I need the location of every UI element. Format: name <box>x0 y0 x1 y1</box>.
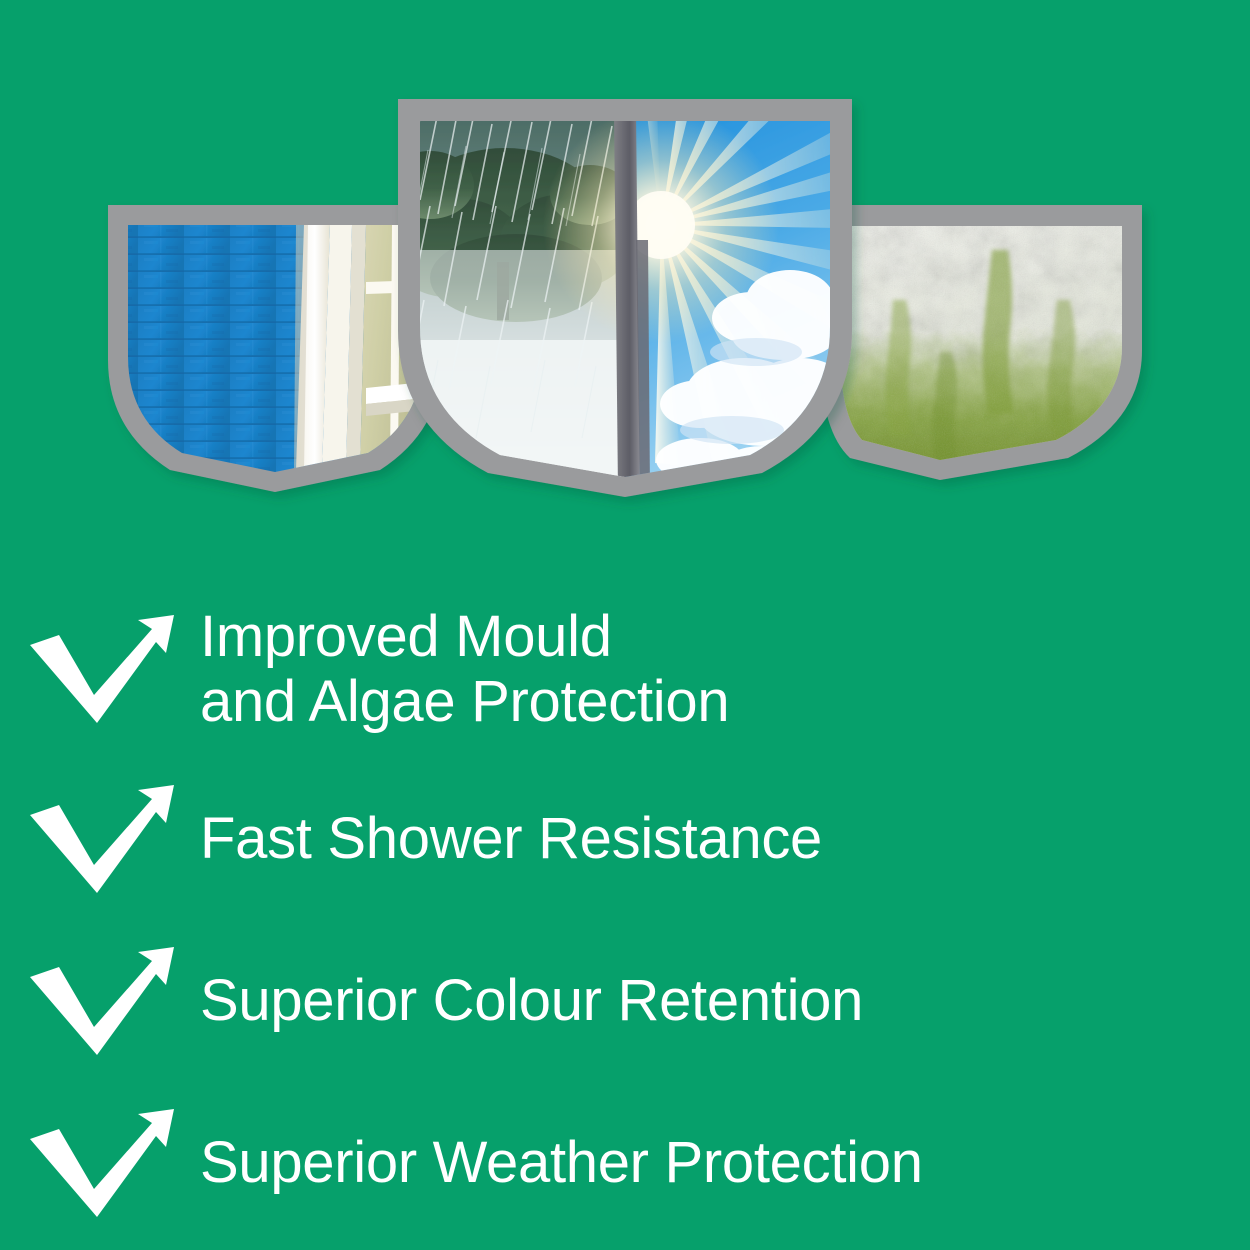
check-arrow-icon-wrap <box>0 1105 200 1223</box>
benefit-label: Superior Weather Protection <box>200 1131 923 1196</box>
shield-weather <box>385 0 899 497</box>
check-arrow-icon-wrap <box>0 943 200 1061</box>
check-arrow-icon <box>26 611 178 729</box>
benefit-item: Improved Mould and Algae Protection <box>0 605 1250 735</box>
check-arrow-icon <box>26 1105 178 1223</box>
benefit-item: Fast Shower Resistance <box>0 781 1250 899</box>
check-arrow-icon-wrap <box>0 781 200 899</box>
benefits-list: Improved Mould and Algae Protection Fast… <box>0 585 1250 1223</box>
benefit-label: Fast Shower Resistance <box>200 807 822 872</box>
benefit-item: Superior Colour Retention <box>0 943 1250 1061</box>
benefit-label: Improved Mould and Algae Protection <box>200 605 729 735</box>
check-arrow-icon-wrap <box>0 611 200 729</box>
benefit-label: Superior Colour Retention <box>200 969 863 1034</box>
poster-canvas: Improved Mould and Algae Protection Fast… <box>0 0 1250 1250</box>
check-arrow-icon <box>26 943 178 1061</box>
shield-algae <box>820 205 1142 480</box>
benefit-item: Superior Weather Protection <box>0 1105 1250 1223</box>
shield-masonry <box>108 205 442 492</box>
shields-illustration <box>0 0 1250 540</box>
check-arrow-icon <box>26 781 178 899</box>
protection-shields <box>0 0 1250 540</box>
